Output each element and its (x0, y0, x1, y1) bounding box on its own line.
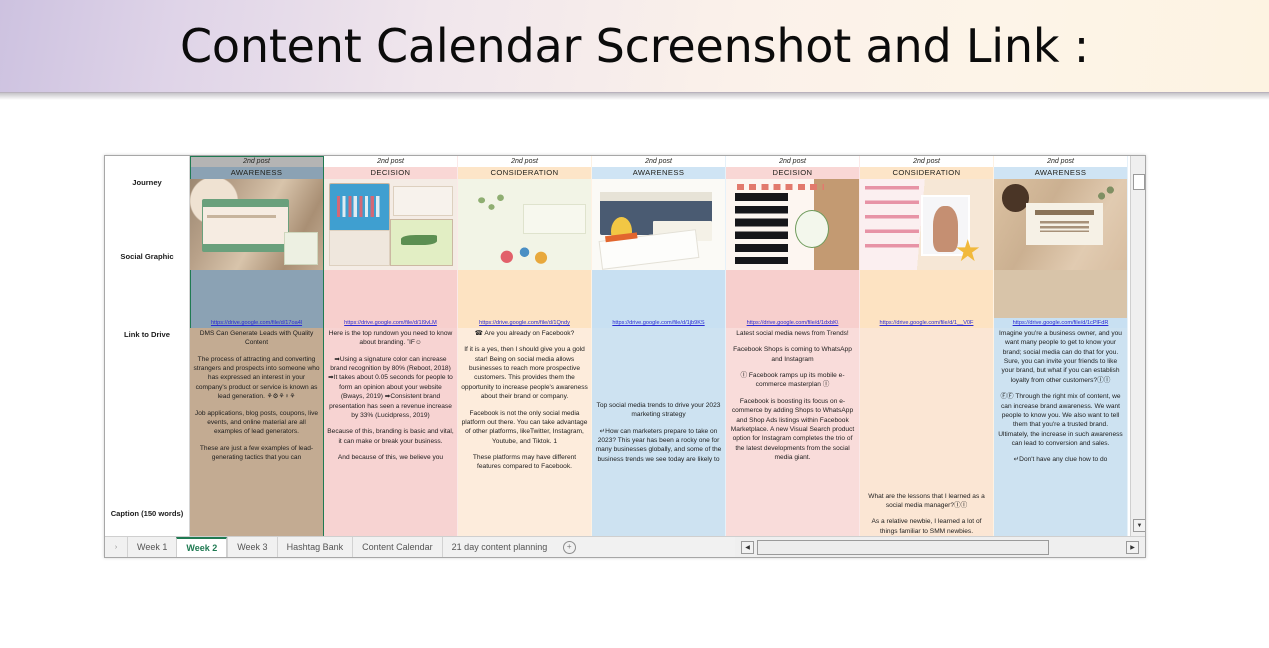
caption-paragraph: ↵Don't have any clue how to do (997, 455, 1124, 464)
caption-text: Here is the top rundown you need to know… (327, 329, 454, 462)
scroll-down-arrow-icon[interactable]: ▼ (1133, 519, 1146, 532)
post-order-label: 2nd post (726, 156, 859, 167)
slide-header-banner: Content Calendar Screenshot and Link : (0, 0, 1269, 93)
caption-paragraph: ↵How can marketers prepare to take on 20… (595, 427, 722, 464)
social-graphic-cell[interactable] (458, 179, 591, 270)
sheet-tab-21-day-content-planning[interactable]: 21 day content planning (442, 537, 557, 557)
caption-cell[interactable]: Here is the top rundown you need to know… (324, 328, 457, 536)
row-label-caption: Caption (150 words) (105, 501, 189, 527)
vertical-scrollbar-thumb[interactable] (1133, 174, 1145, 190)
caption-paragraph: Facebook Shops is coming to WhatsApp and… (729, 345, 856, 364)
sheet-tab-content-calendar[interactable]: Content Calendar (352, 537, 442, 557)
page-title: Content Calendar Screenshot and Link : (180, 19, 1089, 73)
spreadsheet-embed[interactable]: Journey Social Graphic Link to Drive Cap… (104, 155, 1146, 558)
facebook-question-graphic (458, 179, 591, 270)
header-shadow-divider (0, 93, 1269, 100)
caption-text: Imagine you're a business owner, and you… (997, 329, 1124, 465)
caption-cell[interactable]: ☎ Are you already on Facebook? If it is … (458, 328, 591, 536)
drive-link-cell[interactable]: https://drive.google.com/file/d/17oa4l (190, 318, 323, 328)
caption-cell[interactable]: DMS Can Generate Leads with Quality Cont… (190, 328, 323, 536)
journey-stage-cell: CONSIDERATION (458, 167, 591, 179)
social-graphic-cell[interactable] (726, 179, 859, 270)
drive-link-cell[interactable]: https://drive.google.com/file/d/1Qndy (458, 318, 591, 328)
caption-paragraph: Ⓘ Facebook ramps up its mobile e-commerc… (729, 371, 856, 390)
post-order-label: 2nd post (994, 156, 1127, 167)
graphic-cell-spacer (726, 270, 859, 318)
caption-paragraph: As a relative newbie, I learned a lot of… (863, 517, 990, 536)
post-column-1[interactable]: 2nd post AWARENESS https://drive.google.… (190, 156, 324, 536)
journey-stage-cell: CONSIDERATION (860, 167, 993, 179)
message-for-you-graphic (592, 179, 725, 270)
drive-link-cell[interactable]: https://drive.google.com/file/d/1jb9KS (592, 318, 725, 328)
post-order-label: 2nd post (324, 156, 457, 167)
post-column-7[interactable]: 2nd post AWARENESS https://drive.google.… (994, 156, 1128, 536)
caption-paragraph: Because of this, branding is basic and v… (327, 427, 454, 446)
post-order-label: 2nd post (860, 156, 993, 167)
scroll-left-arrow-icon[interactable]: ◀ (741, 541, 754, 554)
scroll-right-arrow-icon[interactable]: ▶ (1126, 541, 1139, 554)
journey-stage-cell: AWARENESS (592, 167, 725, 179)
post-column-6[interactable]: 2nd post CONSIDERATION https://drive.goo… (860, 156, 994, 536)
latest-social-media-news-graphic (726, 179, 859, 270)
spreadsheet-grid[interactable]: Journey Social Graphic Link to Drive Cap… (105, 156, 1145, 536)
caption-paragraph: Latest social media news from Trends! (729, 329, 856, 338)
post-column-5[interactable]: 2nd post DECISION https://drive.google.c… (726, 156, 860, 536)
data-columns[interactable]: 2nd post AWARENESS https://drive.google.… (190, 156, 1145, 536)
caption-cell[interactable]: Imagine you're a business owner, and you… (994, 328, 1127, 536)
social-graphic-cell[interactable] (994, 179, 1127, 270)
graphic-cell-spacer (860, 270, 993, 318)
sheet-tab-bar[interactable]: › Week 1 Week 2 Week 3 Hashtag Bank Cont… (105, 536, 735, 557)
social-graphic-cell[interactable] (592, 179, 725, 270)
caption-paragraph: And because of this, we believe you (327, 453, 454, 462)
caption-paragraph: DMS Can Generate Leads with Quality Cont… (193, 329, 320, 348)
add-sheet-button[interactable]: + (556, 537, 582, 557)
horizontal-scrollbar[interactable]: ◀ ▶ (735, 536, 1145, 557)
post-order-label: 2nd post (592, 156, 725, 167)
caption-paragraph: Top social media trends to drive your 20… (595, 401, 722, 420)
caption-paragraph: These are just a few examples of lead-ge… (193, 444, 320, 463)
graphic-cell-spacer (190, 270, 323, 318)
drive-link-cell[interactable]: https://drive.google.com/file/d/1I9vLM (324, 318, 457, 328)
drive-link-cell[interactable]: https://drive.google.com/file/d/1__V0F (860, 318, 993, 328)
caption-text: Top social media trends to drive your 20… (595, 329, 722, 536)
caption-paragraph: What are the lessons that I learned as a… (863, 492, 990, 511)
caption-cell[interactable]: Top social media trends to drive your 20… (592, 328, 725, 536)
sheet-tab-hashtag-bank[interactable]: Hashtag Bank (277, 537, 353, 557)
caption-paragraph: If it is a yes, then I should give you a… (461, 345, 588, 401)
journey-stage-cell: AWARENESS (190, 167, 323, 179)
caption-text: What are the lessons that I learned as a… (863, 329, 990, 536)
caption-paragraph: These platforms may have different featu… (461, 453, 588, 472)
caption-paragraph: Facebook is boosting its focus on e-comm… (729, 397, 856, 463)
caption-paragraph: ⒻⒻ Through the right mix of content, we … (997, 392, 1124, 448)
post-column-3[interactable]: 2nd post CONSIDERATION https://drive.goo… (458, 156, 592, 536)
graphic-cell-spacer (592, 270, 725, 318)
post-order-label: 2nd post (190, 156, 323, 167)
grow-in-the-know-graphic (994, 179, 1127, 270)
caption-text: DMS Can Generate Leads with Quality Cont… (193, 329, 320, 462)
graphic-cell-spacer (324, 270, 457, 318)
caption-text: Latest social media news from Trends! Fa… (729, 329, 856, 462)
caption-paragraph: Facebook is not the only social media pl… (461, 409, 588, 446)
row-label-journey: Journey (105, 170, 189, 196)
caption-paragraph: Imagine you're a business owner, and you… (997, 329, 1124, 385)
caption-paragraph: The process of attracting and converting… (193, 355, 320, 402)
caption-paragraph: ☎ Are you already on Facebook? (461, 329, 588, 338)
caption-paragraph: Job applications, blog posts, coupons, l… (193, 409, 320, 437)
caption-text: ☎ Are you already on Facebook? If it is … (461, 329, 588, 472)
journey-stage-cell: DECISION (726, 167, 859, 179)
caption-cell[interactable]: What are the lessons that I learned as a… (860, 328, 993, 536)
branding-rundown-graphic (324, 179, 457, 270)
tab-nav-next-icon[interactable]: › (105, 537, 127, 557)
post-column-2[interactable]: 2nd post DECISION https://drive.google.c… (324, 156, 458, 536)
caption-cell[interactable]: Latest social media news from Trends! Fa… (726, 328, 859, 536)
sheet-tab-week-2[interactable]: Week 2 (176, 537, 227, 557)
social-graphic-cell[interactable] (324, 179, 457, 270)
plus-icon: + (563, 541, 576, 554)
journey-stage-cell: AWARENESS (994, 167, 1127, 179)
row-label-link-to-drive: Link to Drive (105, 322, 189, 348)
drive-link-cell[interactable]: https://drive.google.com/file/d/1dxbK\ (726, 318, 859, 328)
row-label-column: Journey Social Graphic Link to Drive Cap… (105, 156, 190, 536)
sheet-tab-week-1[interactable]: Week 1 (127, 537, 176, 557)
sheet-tab-week-3[interactable]: Week 3 (227, 537, 276, 557)
smm-lessons-graphic (860, 179, 993, 270)
post-column-4[interactable]: 2nd post AWARENESS https://drive.google.… (592, 156, 726, 536)
post-order-label: 2nd post (458, 156, 591, 167)
graphic-cell-spacer (458, 270, 591, 318)
caption-paragraph: ➡Using a signature color can increase br… (327, 355, 454, 421)
drive-link-cell[interactable]: https://drive.google.com/file/d/1cPlFdR (994, 318, 1127, 328)
horizontal-scrollbar-thumb[interactable] (757, 540, 1049, 555)
caption-paragraph: Here is the top rundown you need to know… (327, 329, 454, 348)
social-graphic-cell[interactable] (860, 179, 993, 270)
dms-leads-graphic (190, 179, 323, 270)
social-graphic-cell[interactable] (190, 179, 323, 270)
graphic-cell-spacer (994, 270, 1127, 318)
row-label-social-graphic: Social Graphic (105, 244, 189, 270)
vertical-scrollbar[interactable]: ▼ (1130, 156, 1145, 536)
journey-stage-cell: DECISION (324, 167, 457, 179)
